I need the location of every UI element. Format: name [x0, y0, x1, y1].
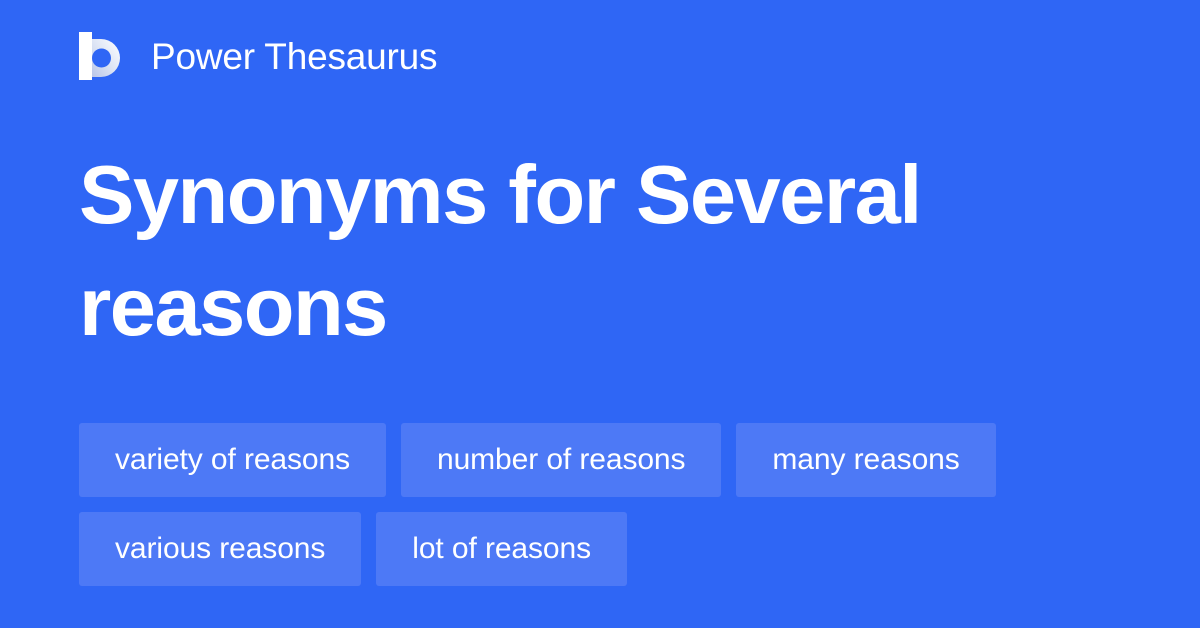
- synonym-chip-list: variety of reasons number of reasons man…: [79, 423, 1121, 586]
- synonym-chip[interactable]: many reasons: [736, 423, 995, 497]
- synonym-chip[interactable]: variety of reasons: [79, 423, 386, 497]
- brand-name: power thesaurus: [151, 38, 437, 75]
- og-card: power thesaurus Synonyms for Several rea…: [0, 0, 1200, 628]
- synonym-chip[interactable]: lot of reasons: [376, 512, 627, 586]
- synonym-chip[interactable]: various reasons: [79, 512, 361, 586]
- power-thesaurus-b-logo-icon: [79, 32, 125, 80]
- brand-logo-lockup[interactable]: power thesaurus: [79, 28, 437, 84]
- page-title: Synonyms for Several reasons: [79, 139, 1089, 363]
- synonym-chip[interactable]: number of reasons: [401, 423, 721, 497]
